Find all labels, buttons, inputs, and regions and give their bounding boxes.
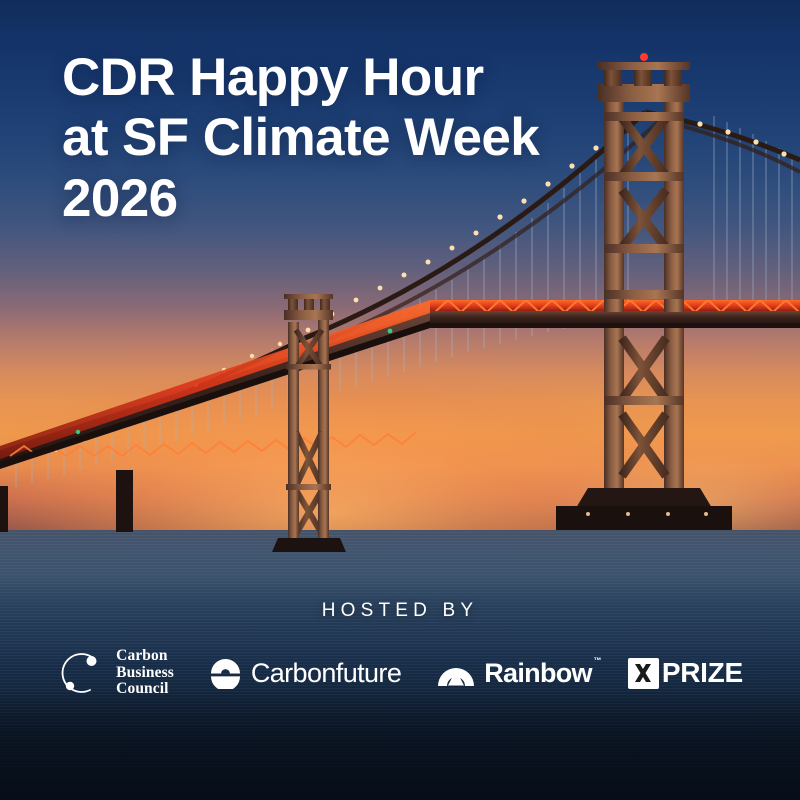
open-circle-with-two-dots-icon <box>57 648 107 698</box>
rainbow-arch-icon <box>437 660 475 687</box>
trademark-symbol: ™ <box>594 656 601 665</box>
sponsor-wordmark-carbonfuture: Carbonfuture <box>251 658 401 689</box>
sponsor-logo-carbonfuture[interactable]: Carbonfuture <box>210 658 401 689</box>
rainbow-wordmark-text: Rainbow <box>484 658 592 688</box>
x-square-icon <box>628 658 659 689</box>
sunrise-circle-icon <box>210 658 241 689</box>
sponsor-wordmark-xprize: PRIZE <box>662 657 743 689</box>
sponsor-logo-xprize[interactable]: PRIZE <box>628 657 743 689</box>
hosted-by-label: HOSTED BY <box>0 600 800 622</box>
sponsor-wordmark-rainbow: Rainbow™ <box>484 658 592 689</box>
water-dark-foreground <box>0 690 800 800</box>
sponsor-logo-row: Carbon Business Council Carbonfuture Rai… <box>0 644 800 702</box>
event-poster: CDR Happy Hour at SF Climate Week 2026 H… <box>0 0 800 800</box>
sponsor-logo-carbon-business-council[interactable]: Carbon Business Council <box>57 648 174 698</box>
sponsor-logo-rainbow[interactable]: Rainbow™ <box>437 658 592 689</box>
sponsor-wordmark-carbon-business-council: Carbon Business Council <box>116 648 174 698</box>
page-title: CDR Happy Hour at SF Climate Week 2026 <box>62 48 622 229</box>
